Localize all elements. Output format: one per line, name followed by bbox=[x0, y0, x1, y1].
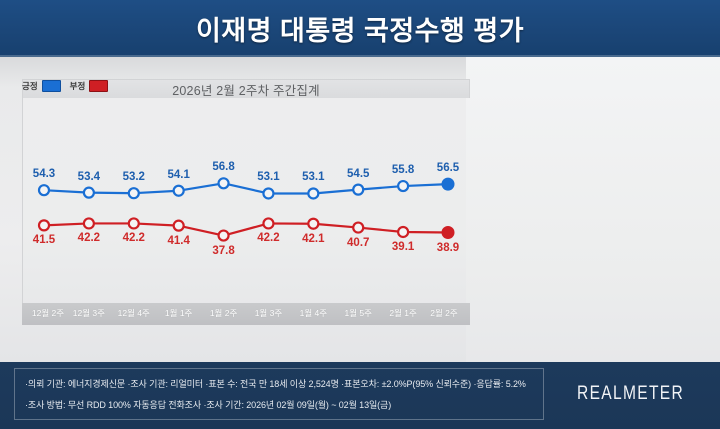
data-point bbox=[219, 178, 229, 188]
data-value-label: 56.8 bbox=[212, 161, 234, 173]
data-point bbox=[353, 223, 363, 233]
realmeter-logo: REALMETER bbox=[577, 383, 684, 405]
data-point bbox=[39, 220, 49, 230]
data-value-label: 53.2 bbox=[123, 171, 145, 183]
data-point bbox=[443, 179, 454, 190]
data-value-label: 42.2 bbox=[257, 232, 279, 244]
series-line-부정 bbox=[44, 223, 448, 235]
x-axis-tick: 1월 1주 bbox=[165, 307, 192, 319]
methodology-line-1: ·의뢰 기관: 에너지경제신문 ·조사 기관: 리얼미터 ·표본 수: 전국 만… bbox=[25, 377, 526, 390]
legend-swatch-positive bbox=[42, 80, 61, 92]
data-value-label: 42.2 bbox=[78, 232, 100, 244]
legend-label-positive: 긍정 bbox=[22, 80, 38, 92]
data-point bbox=[443, 227, 454, 238]
legend-swatch-negative bbox=[89, 80, 108, 92]
data-value-label: 41.5 bbox=[33, 234, 55, 246]
legend-label-negative: 부정 bbox=[70, 80, 86, 92]
data-point bbox=[39, 185, 49, 195]
data-point bbox=[174, 221, 184, 231]
header-bar: 이재명 대통령 국정수행 평가 bbox=[0, 0, 720, 57]
footer-bar: ·의뢰 기관: 에너지경제신문 ·조사 기관: 리얼미터 ·표본 수: 전국 만… bbox=[0, 362, 720, 429]
poll-graphic: 이재명 대통령 국정수행 평가 bbox=[0, 0, 720, 429]
legend-item-negative: 부정 bbox=[70, 80, 109, 92]
data-value-label: 41.4 bbox=[167, 235, 189, 247]
data-point bbox=[308, 219, 318, 229]
series-line-긍정 bbox=[44, 183, 448, 193]
data-value-label: 40.7 bbox=[347, 237, 369, 249]
page-title: 이재명 대통령 국정수행 평가 bbox=[0, 0, 720, 57]
data-value-label: 55.8 bbox=[392, 164, 414, 176]
x-axis-tick: 12월 4주 bbox=[118, 307, 150, 319]
data-point bbox=[308, 188, 318, 198]
chart-plot bbox=[22, 97, 470, 325]
x-axis-tick: 2월 2주 bbox=[430, 307, 457, 319]
data-value-label: 54.1 bbox=[167, 169, 189, 181]
portrait-background bbox=[466, 57, 720, 362]
data-value-label: 38.9 bbox=[437, 242, 459, 254]
data-point bbox=[84, 218, 94, 228]
data-point bbox=[219, 231, 229, 241]
x-axis-tick: 2월 1주 bbox=[389, 307, 416, 319]
data-value-label: 39.1 bbox=[392, 241, 414, 253]
data-value-label: 37.8 bbox=[212, 245, 234, 257]
data-point bbox=[398, 227, 408, 237]
data-value-label: 56.5 bbox=[437, 162, 459, 174]
chart-x-axis: 12월 2주12월 3주12월 4주1월 1주1월 2주1월 3주1월 4주1월… bbox=[22, 303, 470, 325]
data-point bbox=[353, 185, 363, 195]
data-value-label: 53.1 bbox=[257, 171, 279, 183]
chart-legend: 긍정 부정 bbox=[22, 80, 108, 92]
data-point bbox=[129, 188, 139, 198]
data-point bbox=[84, 188, 94, 198]
data-value-label: 42.1 bbox=[302, 233, 324, 245]
x-axis-tick: 12월 3주 bbox=[73, 307, 105, 319]
data-point bbox=[129, 218, 139, 228]
x-axis-tick: 1월 4주 bbox=[300, 307, 327, 319]
data-point bbox=[174, 186, 184, 196]
x-axis-tick: 12월 2주 bbox=[32, 307, 64, 319]
methodology-box: ·의뢰 기관: 에너지경제신문 ·조사 기관: 리얼미터 ·표본 수: 전국 만… bbox=[14, 368, 544, 420]
data-point bbox=[398, 181, 408, 191]
x-axis-tick: 1월 5주 bbox=[344, 307, 371, 319]
data-point bbox=[263, 188, 273, 198]
data-value-label: 53.1 bbox=[302, 171, 324, 183]
x-axis-tick: 1월 3주 bbox=[255, 307, 282, 319]
methodology-line-2: ·조사 방법: 무선 RDD 100% 자동응답 전화조사 ·조사 기간: 20… bbox=[25, 398, 391, 411]
data-value-label: 54.5 bbox=[347, 168, 369, 180]
data-value-label: 53.4 bbox=[78, 171, 100, 183]
data-value-label: 54.3 bbox=[33, 168, 55, 180]
legend-item-positive: 긍정 bbox=[22, 80, 61, 92]
data-point bbox=[263, 218, 273, 228]
data-value-label: 42.2 bbox=[123, 232, 145, 244]
x-axis-tick: 1월 2주 bbox=[210, 307, 237, 319]
president-portrait bbox=[466, 57, 720, 362]
